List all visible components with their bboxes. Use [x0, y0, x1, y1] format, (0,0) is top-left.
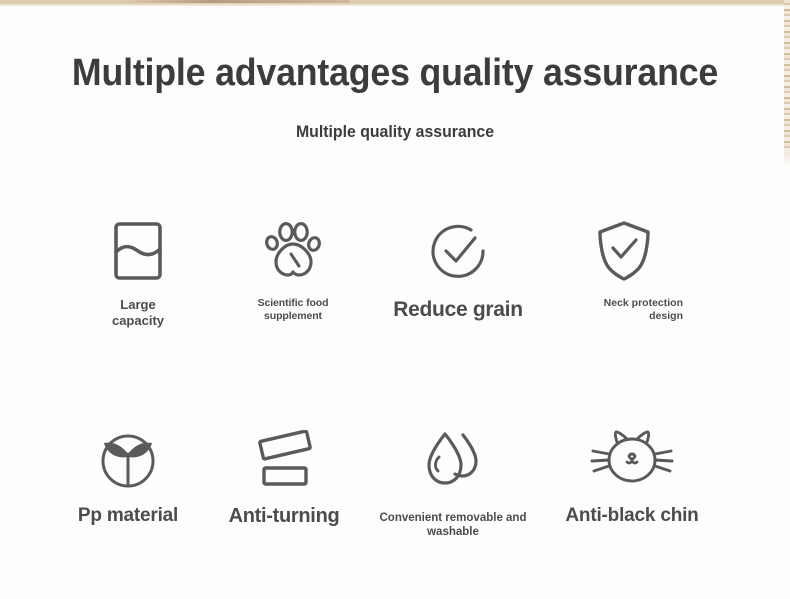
feature-label: Scientific food supplement	[237, 297, 349, 323]
feature-label: Pp material	[78, 504, 178, 527]
cat-face-icon	[590, 425, 674, 497]
feature-item-neck-protection-design: Neck protection design	[554, 215, 694, 323]
feature-label: Reduce grain	[393, 297, 522, 323]
right-edge-photo-strip	[784, 0, 790, 152]
container-fill-level-icon	[111, 215, 165, 287]
feature-grid: Large capacity Scientific food supplemen…	[52, 215, 742, 559]
feature-label: Large capacity	[101, 297, 175, 329]
paw-print-icon	[261, 215, 325, 287]
feature-label: Anti-turning	[229, 504, 340, 528]
feature-row-2: Pp material Anti-turning Convenient remo…	[52, 425, 742, 559]
header-block: Multiple advantages quality assurance Mu…	[0, 0, 790, 142]
feature-item-convenient-removable-washable: Convenient removable and washable	[364, 425, 542, 539]
feature-label: Convenient removable and washable	[367, 511, 539, 539]
sprout-leaves-circle-icon	[97, 425, 159, 497]
feature-row-1: Large capacity Scientific food supplemen…	[52, 215, 742, 349]
feature-item-pp-material: Pp material	[52, 425, 204, 527]
check-circle-icon	[427, 215, 489, 287]
feature-item-anti-turning: Anti-turning	[204, 425, 364, 528]
feature-item-anti-black-chin: Anti-black chin	[542, 425, 722, 527]
water-droplets-icon	[421, 425, 485, 497]
page-title: Multiple advantages quality assurance	[24, 52, 767, 95]
top-edge-photo-strip	[0, 0, 790, 6]
right-edge-photo-strip-fade	[784, 152, 790, 166]
feature-item-reduce-grain: Reduce grain	[362, 215, 554, 323]
feature-item-scientific-food-supplement: Scientific food supplement	[224, 215, 362, 323]
feature-label: Anti-black chin	[565, 504, 698, 527]
feature-item-large-capacity: Large capacity	[52, 215, 224, 329]
feature-label: Neck protection design	[565, 297, 683, 323]
page-subtitle: Multiple quality assurance	[16, 123, 774, 142]
shield-check-icon	[595, 215, 653, 287]
two-rectangles-tilted-icon	[251, 425, 317, 497]
